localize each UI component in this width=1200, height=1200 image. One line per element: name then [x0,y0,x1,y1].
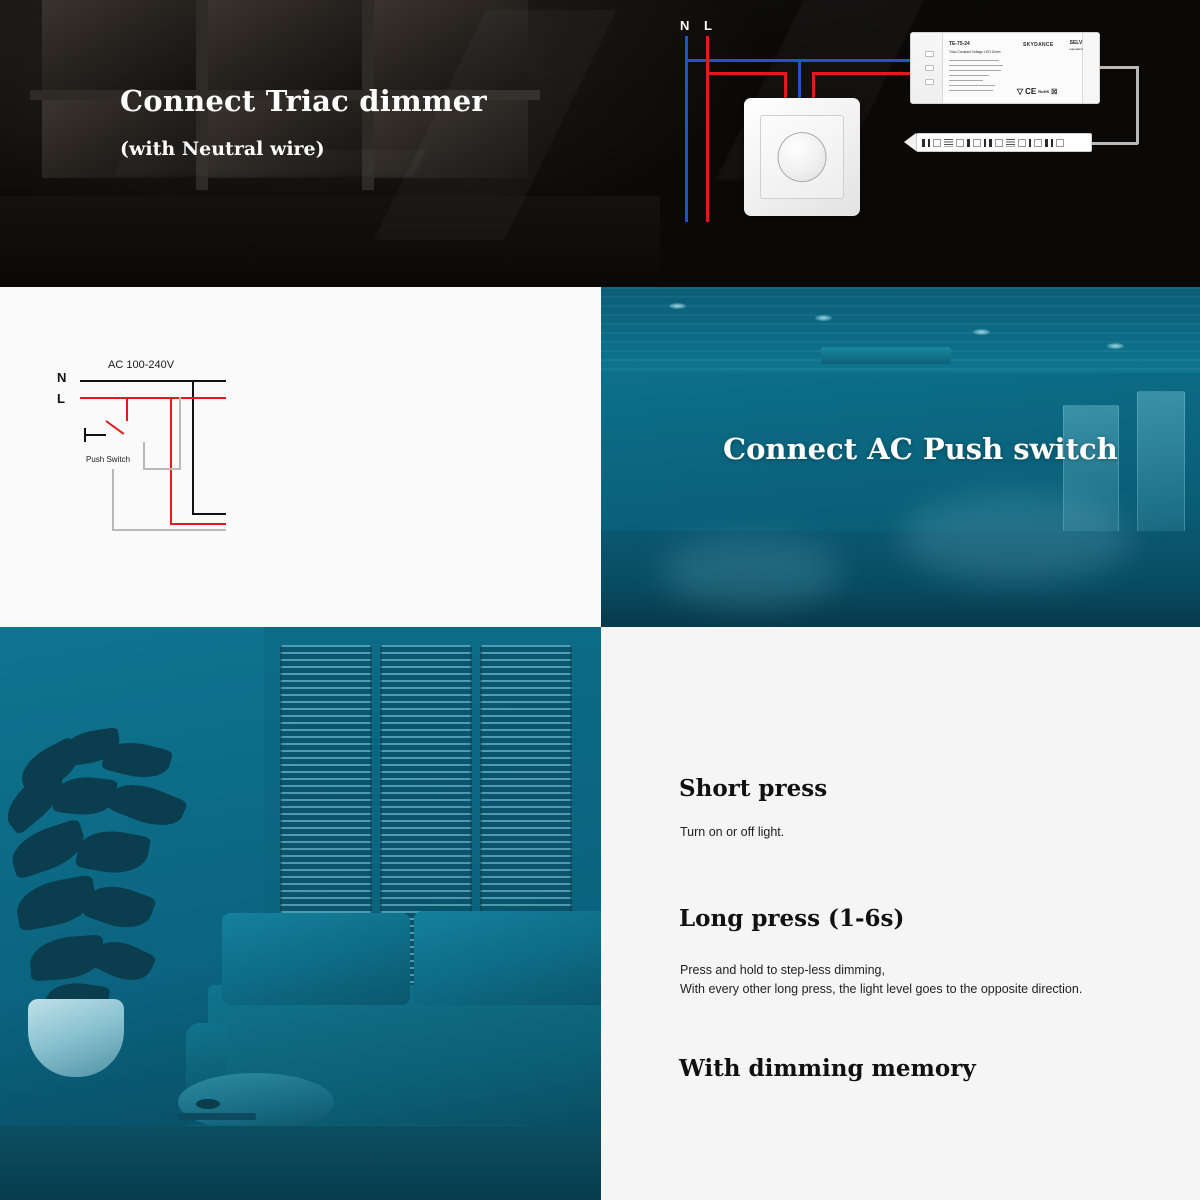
neutral-drop-1 [192,380,194,515]
live-wire-drop [784,72,787,100]
table-object-cup [196,1099,220,1109]
brand-logo: SKYDANCE [1023,42,1053,48]
long-press-heading: Long press (1-6s) [679,905,904,932]
floor-light-glow [901,493,1131,583]
selv-label: SELV [1063,41,1089,47]
sofa-cushion-left [222,913,410,1005]
live-label: L [704,18,712,33]
potted-plant [0,725,210,1025]
short-press-heading: Short press [679,775,827,802]
wee-mark: ☒ [1051,88,1057,96]
push-switch-wiring-panel: N L AC 100-240V Push Switch [0,287,601,627]
triac-rotary-dimmer[interactable] [744,98,860,216]
short-press-body: Turn on or off light. [680,823,784,842]
dimmer-faceplate-inner [760,115,844,200]
downlight [973,329,990,335]
output-cable-v [1136,66,1139,144]
live-wire-branch [706,72,786,75]
switch-symbol-terminal [84,428,86,442]
air-conditioner-unit [821,347,951,364]
push-switch-label: Push Switch [86,455,130,464]
switch-control-wire-3 [179,397,181,470]
table-object-tray [178,1113,256,1120]
hero-floor [0,196,660,287]
output-cable-to-strip [1090,142,1138,145]
downlight [669,303,686,309]
dimmer-knob[interactable] [778,132,827,182]
sofa-cushion-right [414,911,601,1005]
neutral-wire-vertical [685,36,688,222]
downlight [815,315,832,321]
living-room-photo-panel [0,627,601,1200]
room-panel-title: Connect AC Push switch [723,432,1118,466]
ce-mark: CE [1025,87,1036,96]
live-to-switch [126,397,128,421]
driver-type: Triac Constant Voltage LED Driver [949,50,1001,54]
product-infographic: Connect Triac dimmer (with Neutral wire)… [0,0,1200,1200]
live-wire-vertical [706,36,709,222]
wiring-neutral-label: N [57,370,66,385]
wiring-live-label: L [57,391,65,406]
switch-control-wire-1 [143,442,145,470]
hero-panel: Connect Triac dimmer (with Neutral wire)… [0,0,1200,287]
dimming-memory-heading: With dimming memory [679,1055,976,1082]
terminal-pad [925,65,934,71]
live-wire-from-dimmer [812,72,815,100]
live-drop-2 [170,397,172,525]
vde-mark: ▽ [1017,87,1023,96]
hero-title: Connect Triac dimmer [120,84,487,118]
switch-control-wire-5 [112,529,226,531]
terminal-pad [925,79,934,85]
floor-light-glow [661,537,841,607]
led-driver-unit: TE-75-24 Triac Constant Voltage LED Driv… [910,32,1100,104]
strip-tip-left [904,133,916,151]
switch-control-wire-2 [143,468,181,470]
live-wire-to-driver [812,72,910,75]
selv-sub: equivalent [1063,48,1089,51]
output-cable-h [1100,66,1138,69]
live-bus [80,397,226,399]
driver-model: TE-75-24 [949,41,970,47]
window-pane [208,0,362,90]
downlight [1107,343,1124,349]
hero-subtitle: (with Neutral wire) [120,138,325,160]
live-to-driver-2 [170,523,226,525]
floor-rug [0,1126,601,1200]
neutral-bus [80,380,226,382]
neutral-wire-drop [798,59,801,101]
switch-control-wire-4 [112,469,114,531]
neutral-to-driver-2 [192,513,226,515]
long-press-body: Press and hold to step-less dimming, Wit… [680,961,1082,1000]
switch-symbol-arm [84,434,106,436]
neutral-label: N [680,18,689,33]
usage-instructions-panel: Short press Turn on or off light. Long p… [601,627,1200,1200]
window-pane [42,0,196,90]
rohs-mark: RoHS [1038,89,1049,94]
switch-symbol-blade [105,420,124,435]
triac-wiring-diagram: N L [660,10,1200,232]
terminal-pad [925,51,934,57]
ac-voltage-label: AC 100-240V [108,359,174,371]
driver-terminal-block [911,33,943,103]
led-strip [916,133,1092,152]
